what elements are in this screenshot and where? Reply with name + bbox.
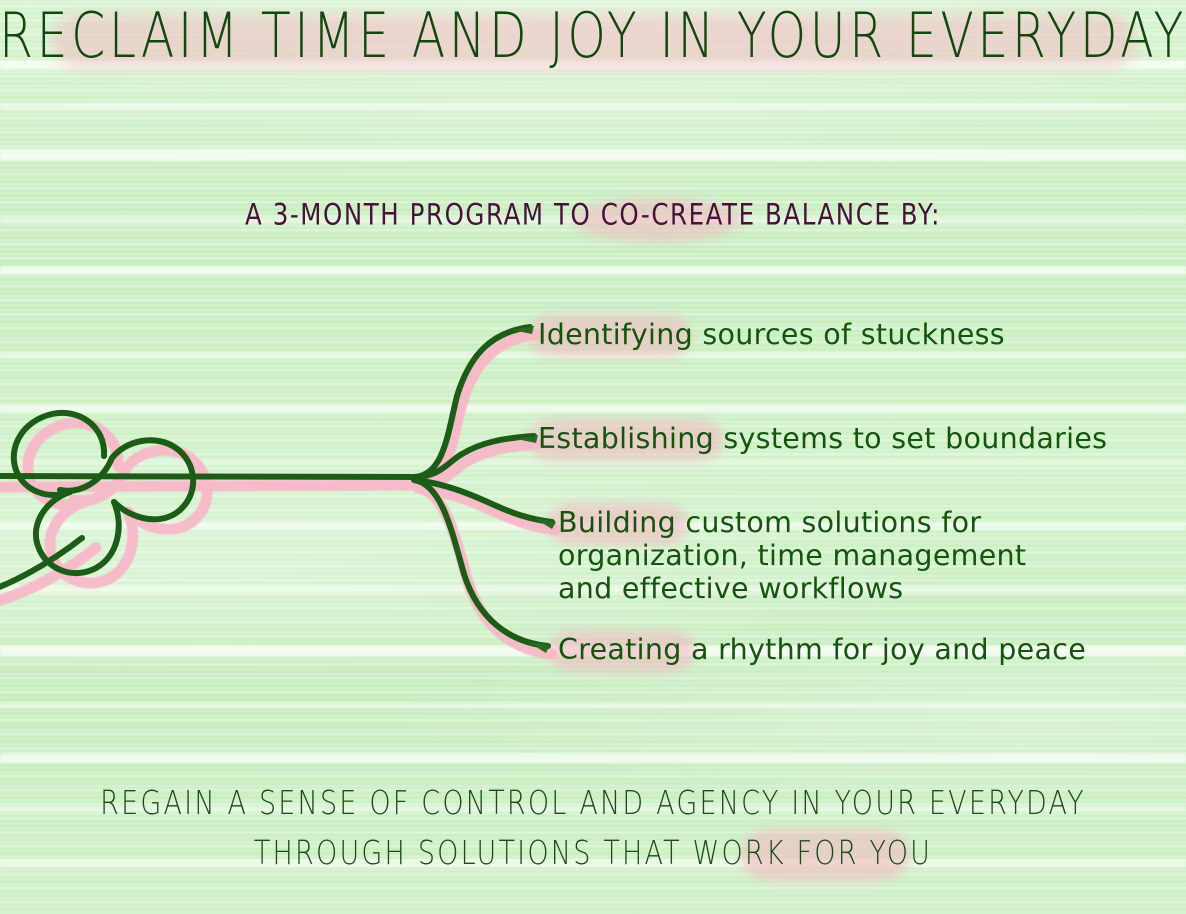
- poster-canvas: RECLAIM TIME AND JOY IN YOUR EVERYDAY A …: [0, 0, 1186, 914]
- footer-line-1: REGAIN A SENSE OF CONTROL AND AGENCY IN …: [0, 785, 1186, 823]
- branch-label-rhythm: Creating a rhythm for joy and peace: [558, 633, 1086, 666]
- program-subtitle: A 3-MONTH PROGRAM TO CO-CREATE BALANCE B…: [12, 197, 1174, 231]
- branch-label-stuckness: Identifying sources of stuckness: [538, 318, 1005, 351]
- page-title: RECLAIM TIME AND JOY IN YOUR EVERYDAY: [0, 0, 1186, 72]
- footer-line-2: THROUGH SOLUTIONS THAT WORK FOR YOU: [0, 835, 1186, 873]
- branch-label-boundaries: Establishing systems to set boundaries: [538, 422, 1107, 455]
- branch-label-solutions: Building custom solutions for organizati…: [558, 506, 1026, 605]
- stem-tips: [512, 326, 556, 653]
- mindmap-stems: [0, 0, 1186, 914]
